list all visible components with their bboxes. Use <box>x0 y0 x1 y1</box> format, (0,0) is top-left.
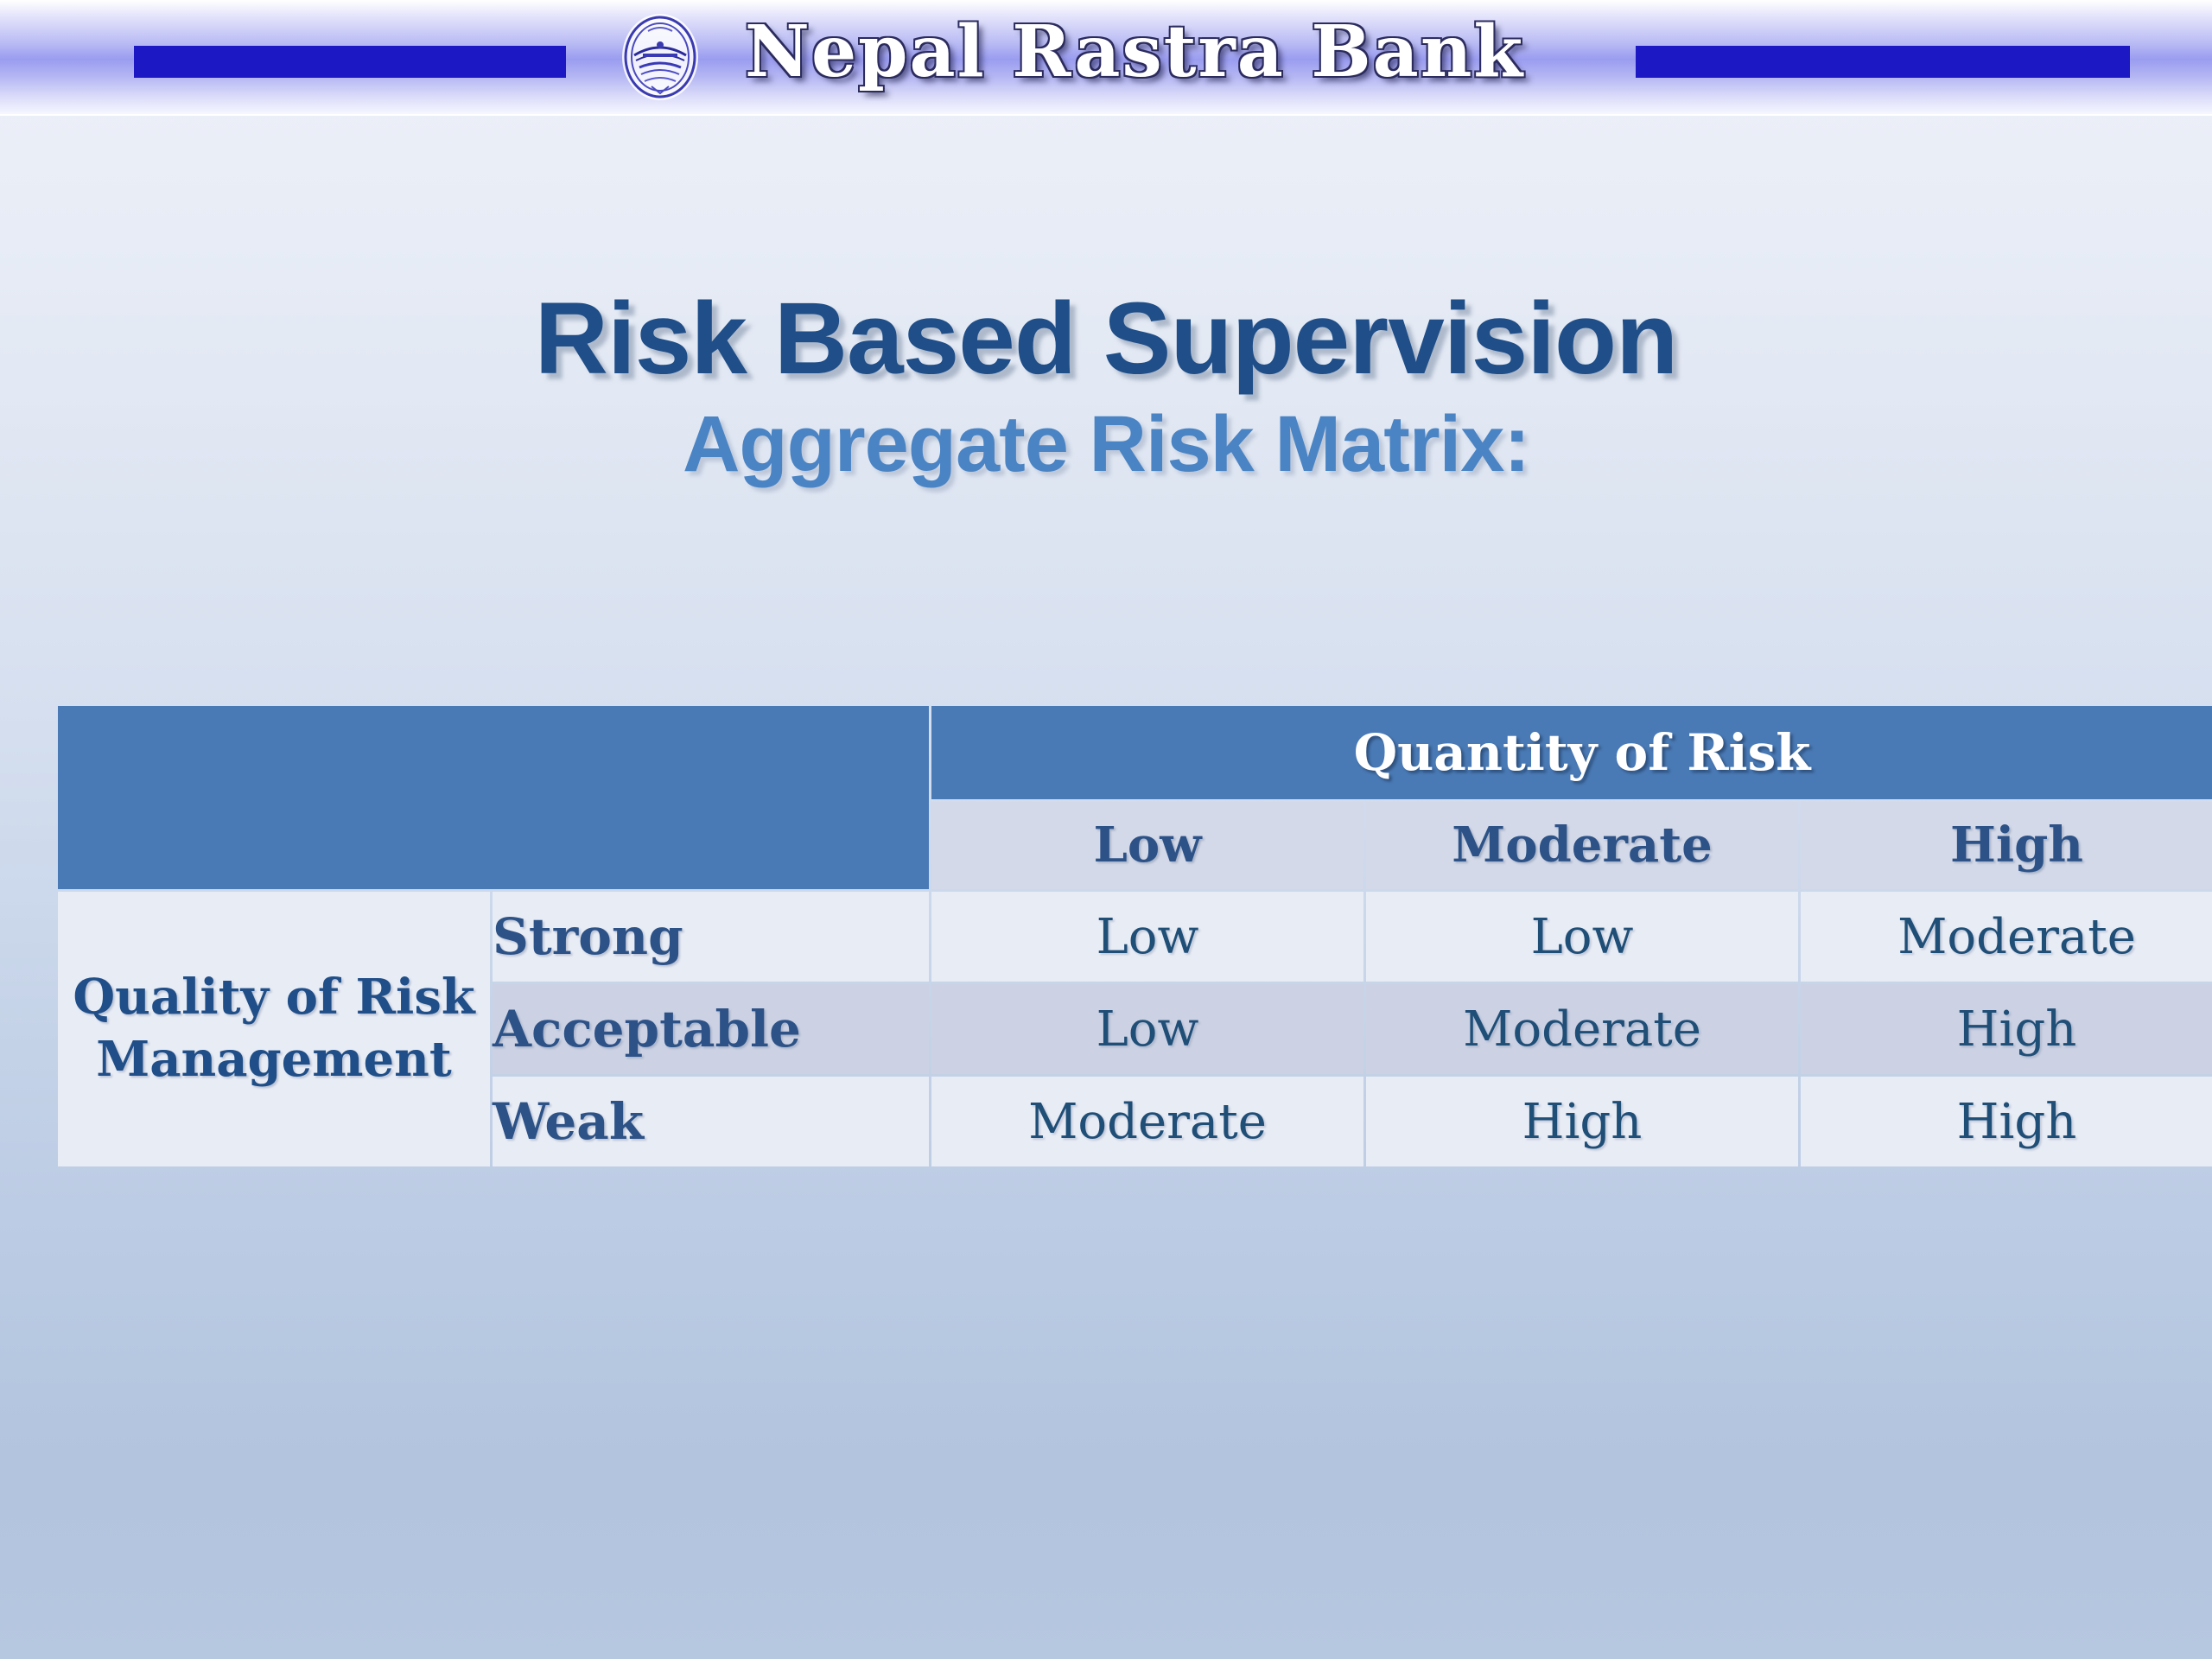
cell-acceptable-high: High <box>1801 984 2212 1074</box>
decorative-bar-left-icon <box>134 46 566 78</box>
cell-acceptable-moderate: Moderate <box>1366 984 1798 1074</box>
slide-canvas: Nepal Rastra Bank Risk Based Supervision… <box>0 0 2212 1659</box>
row-header-strong: Strong <box>493 892 929 982</box>
decorative-bar-right-icon <box>1636 46 2130 78</box>
row-header-weak: Weak <box>493 1077 929 1166</box>
column-header-moderate: Moderate <box>1366 802 1798 889</box>
column-header-high: High <box>1801 802 2212 889</box>
cell-strong-low: Low <box>931 892 1363 982</box>
table-row: Quality of Risk Management Strong Low Lo… <box>58 892 2212 982</box>
cell-strong-high: Moderate <box>1801 892 2212 982</box>
aggregate-risk-matrix: Quantity of Risk Low Moderate High Quali… <box>55 703 2091 1169</box>
risk-matrix-table: Quantity of Risk Low Moderate High Quali… <box>55 703 2212 1169</box>
cell-weak-low: Moderate <box>931 1077 1363 1166</box>
column-group-header: Quantity of Risk <box>931 706 2212 799</box>
page-title: Risk Based Supervision <box>0 285 2212 393</box>
row-group-header: Quality of Risk Management <box>58 892 490 1166</box>
page-subtitle: Aggregate Risk Matrix: <box>0 402 2212 487</box>
column-header-low: Low <box>931 802 1363 889</box>
cell-strong-moderate: Low <box>1366 892 1798 982</box>
nrb-emblem-icon <box>613 10 707 104</box>
table-header-row-group: Quantity of Risk <box>58 706 2212 799</box>
matrix-corner-blank <box>58 706 929 889</box>
bank-name-title: Nepal Rastra Bank <box>745 7 1524 102</box>
slide-title-block: Risk Based Supervision Aggregate Risk Ma… <box>0 285 2212 487</box>
cell-acceptable-low: Low <box>931 984 1363 1074</box>
row-header-acceptable: Acceptable <box>493 984 929 1074</box>
cell-weak-high: High <box>1801 1077 2212 1166</box>
cell-weak-moderate: High <box>1366 1077 1798 1166</box>
header-banner: Nepal Rastra Bank <box>0 0 2212 116</box>
